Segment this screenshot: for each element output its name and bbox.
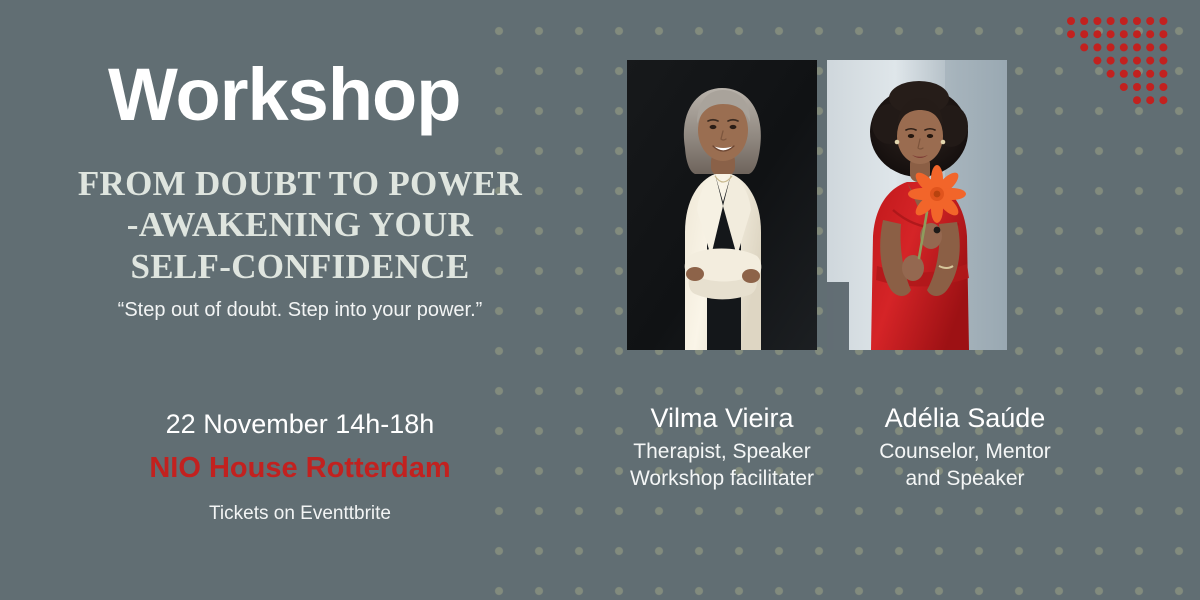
speaker-role-line-1: Counselor, Mentor [850,439,1080,466]
speaker-name: Vilma Vieira [612,403,832,434]
speaker-name: Adélia Saúde [850,403,1080,434]
speaker-role-line-2: and Speaker [850,466,1080,493]
red-staircase-dot-pattern [1066,16,1182,108]
tickets-info: Tickets on Eventtbrite [0,503,600,525]
speaker-role-line-2: Workshop facilitater [612,466,832,493]
event-venue: NIO House Rotterdam [0,452,600,485]
left-text-column: Workshop FROM DOUBT TO POWER -AWAKENING … [0,0,600,600]
subtitle-line-2: -AWAKENING YOUR [0,204,600,245]
tagline-quote: “Step out of doubt. Step into your power… [0,299,600,322]
speaker-photo-vilma-vieira [627,60,817,350]
subtitle: FROM DOUBT TO POWER -AWAKENING YOUR SELF… [0,163,600,287]
speaker-photo-adelia-saude [827,60,1007,350]
page-title: Workshop [108,58,460,132]
event-date-time: 22 November 14h-18h [0,409,600,440]
speaker-role-line-1: Therapist, Speaker [612,439,832,466]
subtitle-line-1: FROM DOUBT TO POWER [0,163,600,204]
speaker-caption-2: Adélia Saúde Counselor, Mentor and Speak… [850,403,1080,493]
subtitle-line-3: SELF-CONFIDENCE [0,246,600,287]
event-poster: Workshop FROM DOUBT TO POWER -AWAKENING … [0,0,1200,600]
speaker-caption-1: Vilma Vieira Therapist, Speaker Workshop… [612,403,832,493]
